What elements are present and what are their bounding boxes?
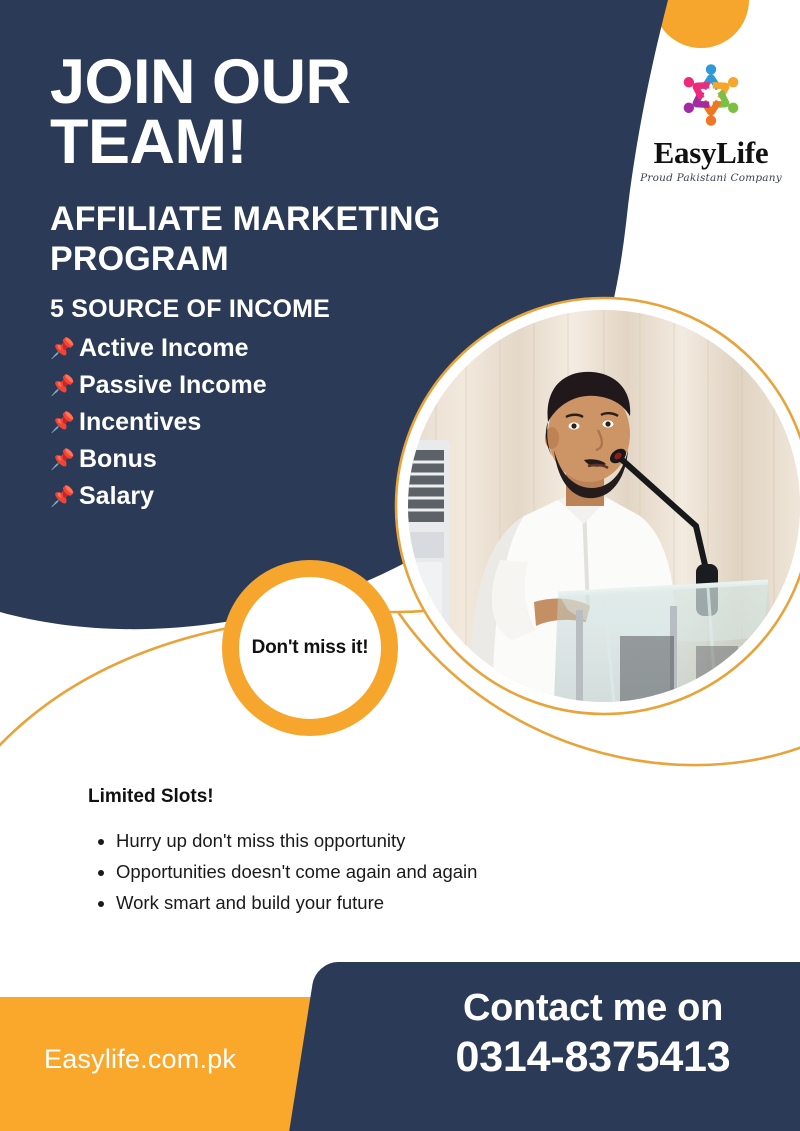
contact-phone-number[interactable]: 0314-8375413 (386, 1031, 800, 1083)
hero-text-block: JOIN OUR TEAM! AFFILIATE MARKETING PROGR… (50, 52, 480, 515)
logo-tagline: Proud Pakistani Company (636, 172, 786, 184)
list-item: Hurry up don't miss this opportunity (116, 826, 688, 857)
limited-slots-title: Limited Slots! (88, 786, 688, 808)
income-source-label: Incentives (79, 404, 201, 441)
pushpin-icon: 📌 (50, 450, 74, 470)
income-source-label: Passive Income (79, 367, 267, 404)
page-title: JOIN OUR TEAM! (50, 52, 480, 173)
program-subtitle: AFFILIATE MARKETING PROGRAM (50, 199, 480, 279)
poster-canvas: JOIN OUR TEAM! AFFILIATE MARKETING PROGR… (0, 0, 800, 1131)
contact-label: Contact me on (386, 985, 800, 1031)
list-item: 📌 Salary (50, 478, 480, 515)
income-source-label: Bonus (79, 441, 157, 478)
pushpin-icon: 📌 (50, 487, 74, 507)
limited-slots-section: Limited Slots! Hurry up don't miss this … (88, 786, 688, 919)
list-item: Work smart and build your future (116, 888, 688, 919)
logo-wordmark: EasyLife (636, 137, 786, 168)
people-circle-icon (663, 55, 759, 135)
income-source-label: Active Income (79, 330, 249, 367)
badge-label: Don't miss it! (252, 637, 369, 659)
income-sources-heading: 5 SOURCE OF INCOME (50, 295, 480, 324)
dont-miss-it-badge: Don't miss it! (222, 560, 398, 736)
income-sources-list: 📌 Active Income 📌 Passive Income 📌 Incen… (50, 330, 480, 515)
limited-slots-list: Hurry up don't miss this opportunity Opp… (88, 826, 688, 919)
list-item: 📌 Incentives (50, 404, 480, 441)
income-source-label: Salary (79, 478, 154, 515)
list-item: 📌 Bonus (50, 441, 480, 478)
list-item: 📌 Active Income (50, 330, 480, 367)
pushpin-icon: 📌 (50, 339, 74, 359)
website-url[interactable]: Easylife.com.pk (44, 1044, 236, 1075)
brand-logo: EasyLife Proud Pakistani Company (636, 55, 786, 184)
pushpin-icon: 📌 (50, 413, 74, 433)
list-item: Opportunities doesn't come again and aga… (116, 857, 688, 888)
contact-block: Contact me on 0314-8375413 (386, 985, 800, 1084)
list-item: 📌 Passive Income (50, 367, 480, 404)
pushpin-icon: 📌 (50, 376, 74, 396)
